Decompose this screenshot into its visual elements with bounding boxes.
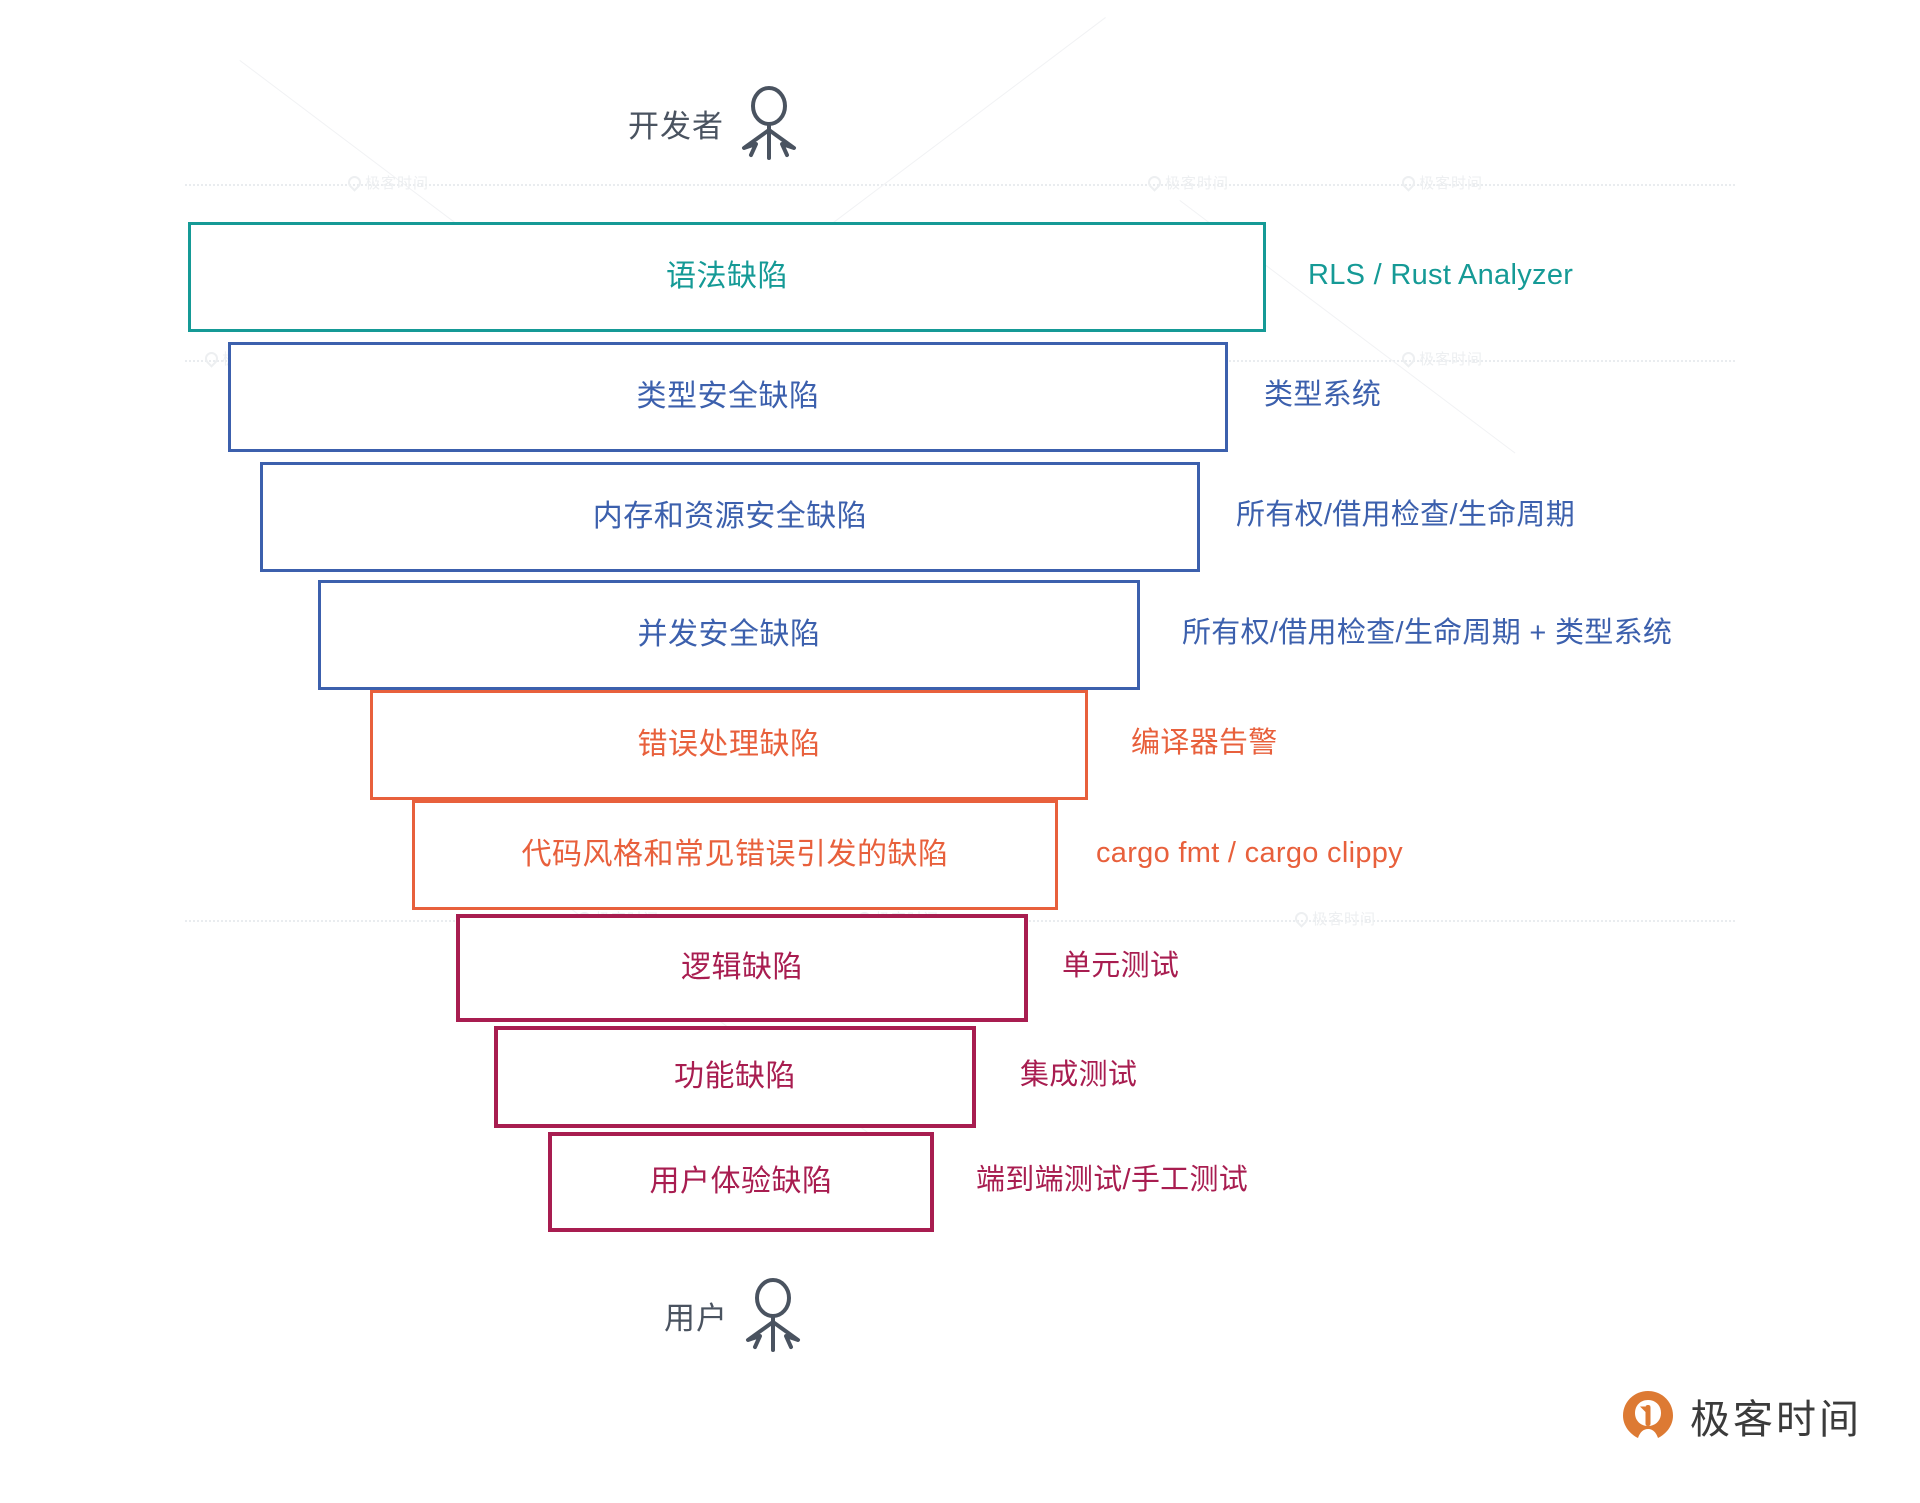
funnel-box-label: 并发安全缺陷 <box>638 617 821 653</box>
funnel-box-8[interactable]: 功能缺陷 <box>494 1026 976 1128</box>
funnel-box-7[interactable]: 逻辑缺陷 <box>456 914 1028 1022</box>
funnel-tool-label-9: 端到端测试/手工测试 <box>976 1163 1248 1198</box>
funnel-box-1[interactable]: 语法缺陷 <box>188 222 1266 332</box>
funnel-box-6[interactable]: 代码风格和常见错误引发的缺陷 <box>412 800 1058 910</box>
defect-funnel: 语法缺陷RLS / Rust Analyzer类型安全缺陷类型系统内存和资源安全… <box>0 0 1920 1503</box>
geektime-logo-icon <box>1620 1388 1676 1444</box>
funnel-box-2[interactable]: 类型安全缺陷 <box>228 342 1228 452</box>
funnel-tool-label-2: 类型系统 <box>1264 378 1381 413</box>
funnel-box-label: 功能缺陷 <box>674 1059 796 1095</box>
brand-name: 极客时间 <box>1690 1387 1862 1445</box>
funnel-tool-label-6: cargo fmt / cargo clippy <box>1096 836 1403 871</box>
funnel-tool-label-1: RLS / Rust Analyzer <box>1308 258 1573 293</box>
person-icon <box>742 1278 804 1352</box>
funnel-box-label: 错误处理缺陷 <box>638 727 821 763</box>
funnel-box-9[interactable]: 用户体验缺陷 <box>548 1132 934 1232</box>
funnel-tool-label-3: 所有权/借用检查/生命周期 <box>1236 498 1575 533</box>
diagram-canvas: 极客时间极客时间极客时间极客时间极客时间极客时间极客时间极客时间极客时间 开发者… <box>0 0 1920 1503</box>
developer-actor: 开发者 <box>628 86 800 160</box>
user-actor: 用户 <box>664 1278 804 1352</box>
funnel-box-label: 内存和资源安全缺陷 <box>593 499 868 535</box>
person-icon <box>738 86 800 160</box>
funnel-box-label: 语法缺陷 <box>666 259 788 295</box>
funnel-tool-label-5: 编译器告警 <box>1131 726 1278 761</box>
developer-label: 开发者 <box>628 101 724 146</box>
funnel-box-5[interactable]: 错误处理缺陷 <box>370 690 1088 800</box>
funnel-box-3[interactable]: 内存和资源安全缺陷 <box>260 462 1200 572</box>
funnel-tool-label-8: 集成测试 <box>1020 1058 1137 1093</box>
funnel-box-label: 代码风格和常见错误引发的缺陷 <box>522 837 949 873</box>
funnel-tool-label-4: 所有权/借用检查/生命周期 + 类型系统 <box>1182 616 1672 651</box>
funnel-box-label: 类型安全缺陷 <box>637 379 820 415</box>
user-label: 用户 <box>664 1293 728 1338</box>
funnel-box-label: 用户体验缺陷 <box>650 1164 833 1200</box>
brand-logo: 极客时间 <box>1620 1387 1862 1445</box>
funnel-box-label: 逻辑缺陷 <box>681 950 803 986</box>
funnel-box-4[interactable]: 并发安全缺陷 <box>318 580 1140 690</box>
funnel-tool-label-7: 单元测试 <box>1062 949 1179 984</box>
